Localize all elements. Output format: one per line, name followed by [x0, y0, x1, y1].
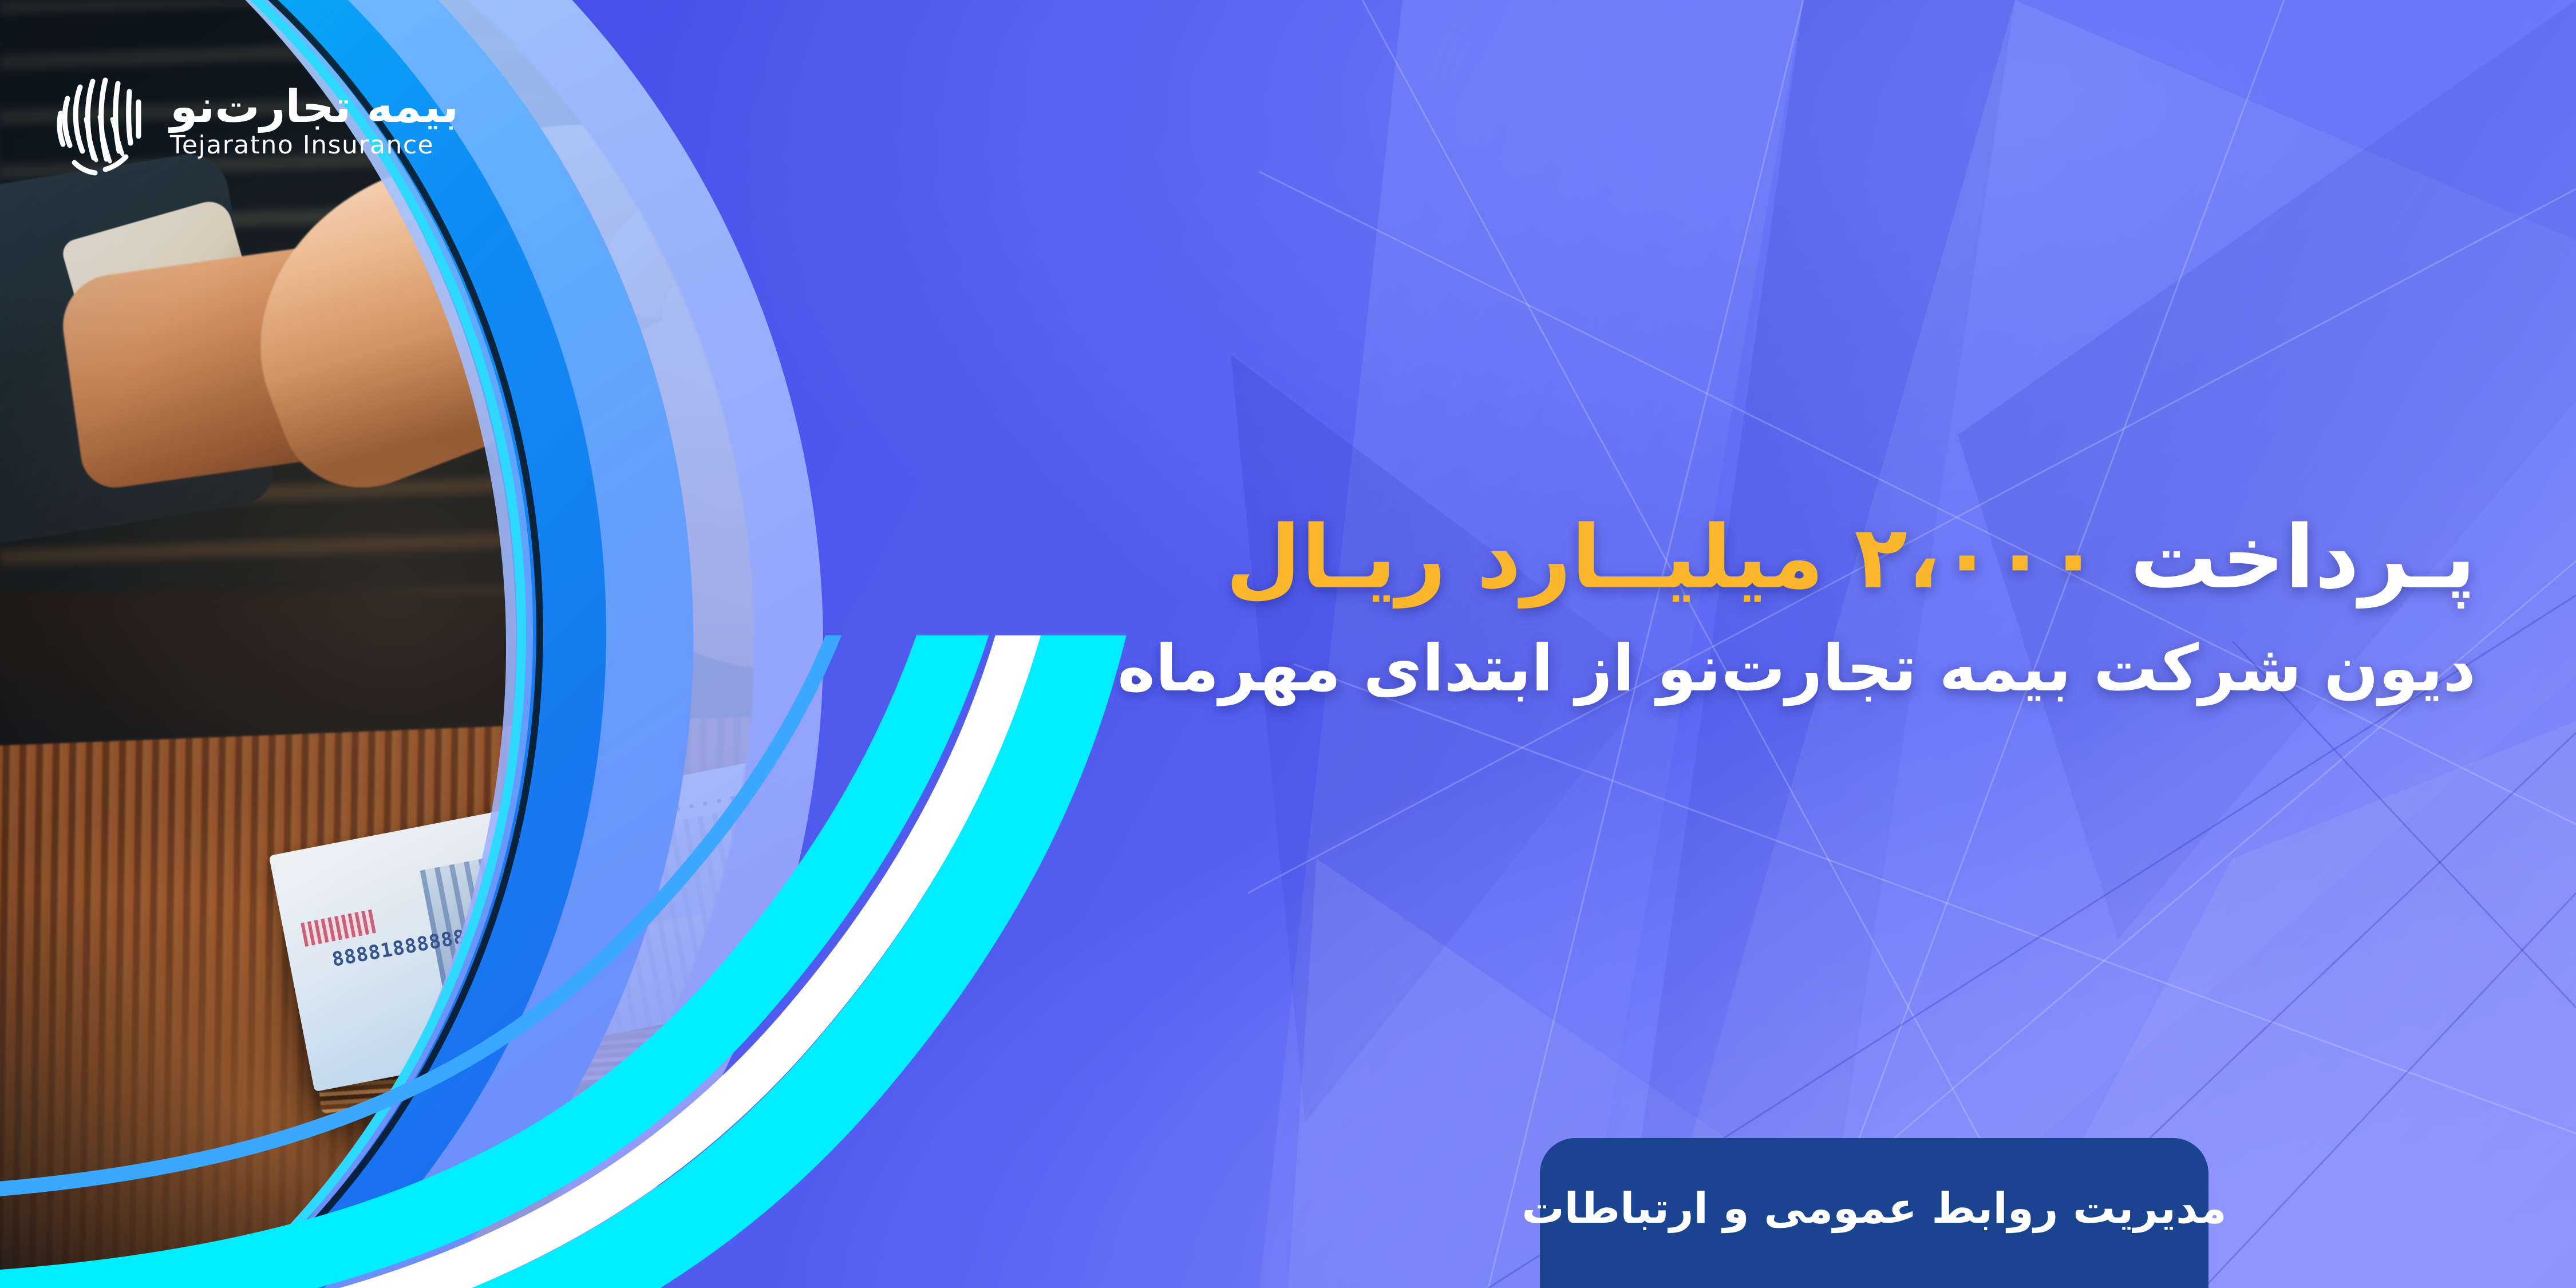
public-relations-badge: مدیریت روابط عمومی و ارتباطات — [1540, 1138, 2208, 1288]
brand-logo[interactable]: بیمه تجارت‌نو Tejaratno Insurance — [50, 64, 459, 179]
fingerprint-fan-mark-icon — [50, 64, 151, 179]
headline-block: پـرداخت ۲،۰۰۰ میلیــارد ریـال دیون شرکت … — [1045, 504, 2476, 711]
headline-line-2: دیون شرکت بیمه تجارت‌نو از ابتدای مهرماه — [1045, 627, 2476, 711]
insurance-announcement-banner: ۱۰۰۰۰۰۰ 88881888888 100 — [0, 0, 2576, 1288]
badge-label: مدیریت روابط عمومی و ارتباطات — [1522, 1187, 2226, 1239]
logo-wordmark-fa: بیمه تجارت‌نو — [170, 85, 459, 129]
headline-verb: پـرداخت — [2130, 507, 2476, 608]
photo-vignette — [0, 0, 1156, 1288]
logo-wordmark-en: Tejaratno Insurance — [170, 133, 459, 158]
headline-line-1: پـرداخت ۲،۰۰۰ میلیــارد ریـال — [1045, 504, 2476, 611]
handshake-photo: ۱۰۰۰۰۰۰ 88881888888 100 — [0, 0, 1156, 1288]
headline-amount: ۲،۰۰۰ میلیــارد ریـال — [1226, 507, 2100, 608]
